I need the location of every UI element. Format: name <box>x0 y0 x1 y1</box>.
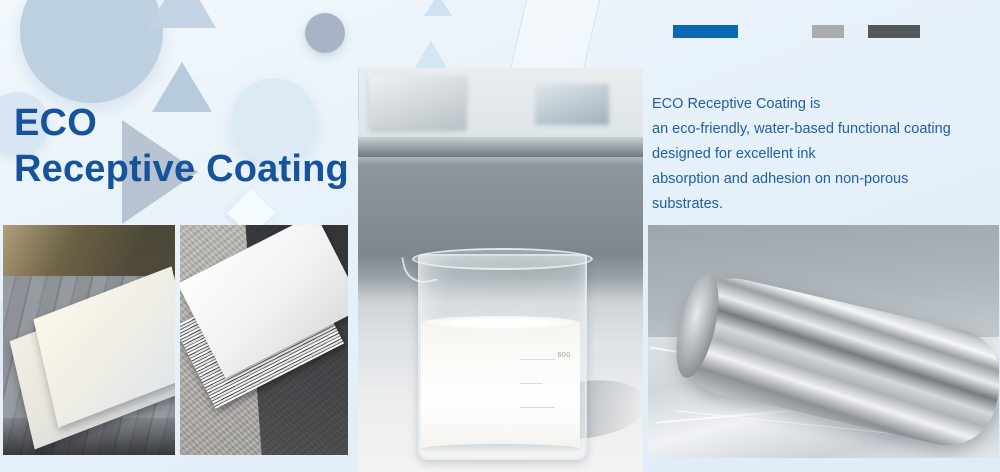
product-description: ECO Receptive Coating is an eco-friendly… <box>652 92 992 217</box>
decor-triangle-small <box>415 40 447 68</box>
decor-parallelogram-outline <box>509 0 605 74</box>
paper-stack-photo <box>180 225 348 455</box>
beaker-with-white-coating-photo: 600 <box>358 68 643 472</box>
graduation-mark-2 <box>520 383 543 384</box>
beaker-spout <box>401 251 437 287</box>
graduation-label: 600 <box>558 352 571 359</box>
color-bar-light-gray <box>812 25 844 38</box>
description-line-5: substrates. <box>652 192 992 217</box>
page-title: ECO Receptive Coating <box>14 100 349 192</box>
color-bar-primary <box>673 25 738 38</box>
decor-circle-large-topleft <box>20 0 163 103</box>
beaker-base <box>421 444 581 454</box>
description-line-3: designed for excellent ink <box>652 142 992 167</box>
decor-triangle-tiny <box>424 0 452 16</box>
graduation-scale-line <box>358 68 359 121</box>
white-coating-liquid <box>421 323 581 456</box>
decor-triangle-top <box>148 0 216 28</box>
description-line-1: ECO Receptive Coating is <box>652 92 992 117</box>
color-bar-dark-gray <box>868 25 920 38</box>
graduation-mark-1 <box>520 359 554 360</box>
page-title-line-2: Receptive Coating <box>14 146 349 192</box>
lab-bench-edge <box>358 137 643 157</box>
lab-equipment-left <box>369 76 466 129</box>
eco-receptive-coating-banner: ECO Receptive Coating ECO Receptive Coat… <box>0 0 1000 472</box>
lab-equipment-right <box>535 84 609 124</box>
page-title-line-1: ECO <box>14 100 349 146</box>
description-line-2: an eco-friendly, water-based functional … <box>652 117 992 142</box>
description-line-4: absorption and adhesion on non-porous <box>652 167 992 192</box>
transparent-film-roll-photo <box>648 225 999 458</box>
graduation-mark-3 <box>520 407 554 408</box>
beaker-rim <box>412 248 593 270</box>
coated-paper-on-wood-photo <box>3 225 175 455</box>
decor-circle-gray <box>305 13 345 53</box>
